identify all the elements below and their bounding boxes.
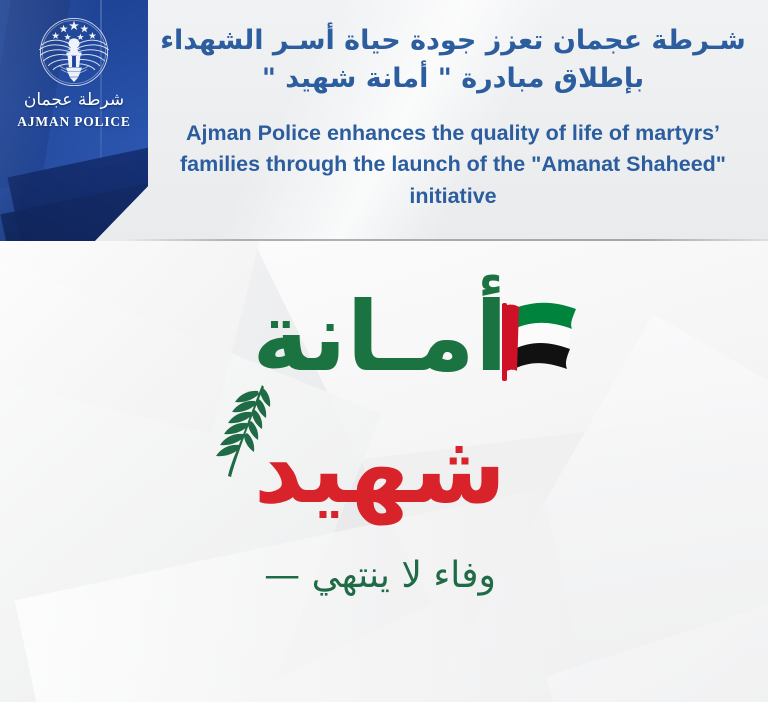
initiative-logo-lockup: أمـانة شه <box>0 241 768 702</box>
logo-word-amana: أمـانة <box>180 289 580 385</box>
brand-name-english: AJMAN POLICE <box>16 114 132 130</box>
brand-name-arabic: شرطة عجمان <box>16 92 132 109</box>
headline-english: Ajman Police enhances the quality of lif… <box>150 118 756 212</box>
poster-canvas: شـرطة عجمان تعزز جودة حياة أسـر الشهداء … <box>0 0 768 702</box>
logo-word-shaheed: شهيد <box>180 421 580 517</box>
logo-tagline: وفاء لا ينتهي — <box>180 556 580 596</box>
headline-arabic: شـرطة عجمان تعزز جودة حياة أسـر الشهداء … <box>150 22 756 99</box>
uae-falcon-emblem-icon <box>26 12 122 92</box>
